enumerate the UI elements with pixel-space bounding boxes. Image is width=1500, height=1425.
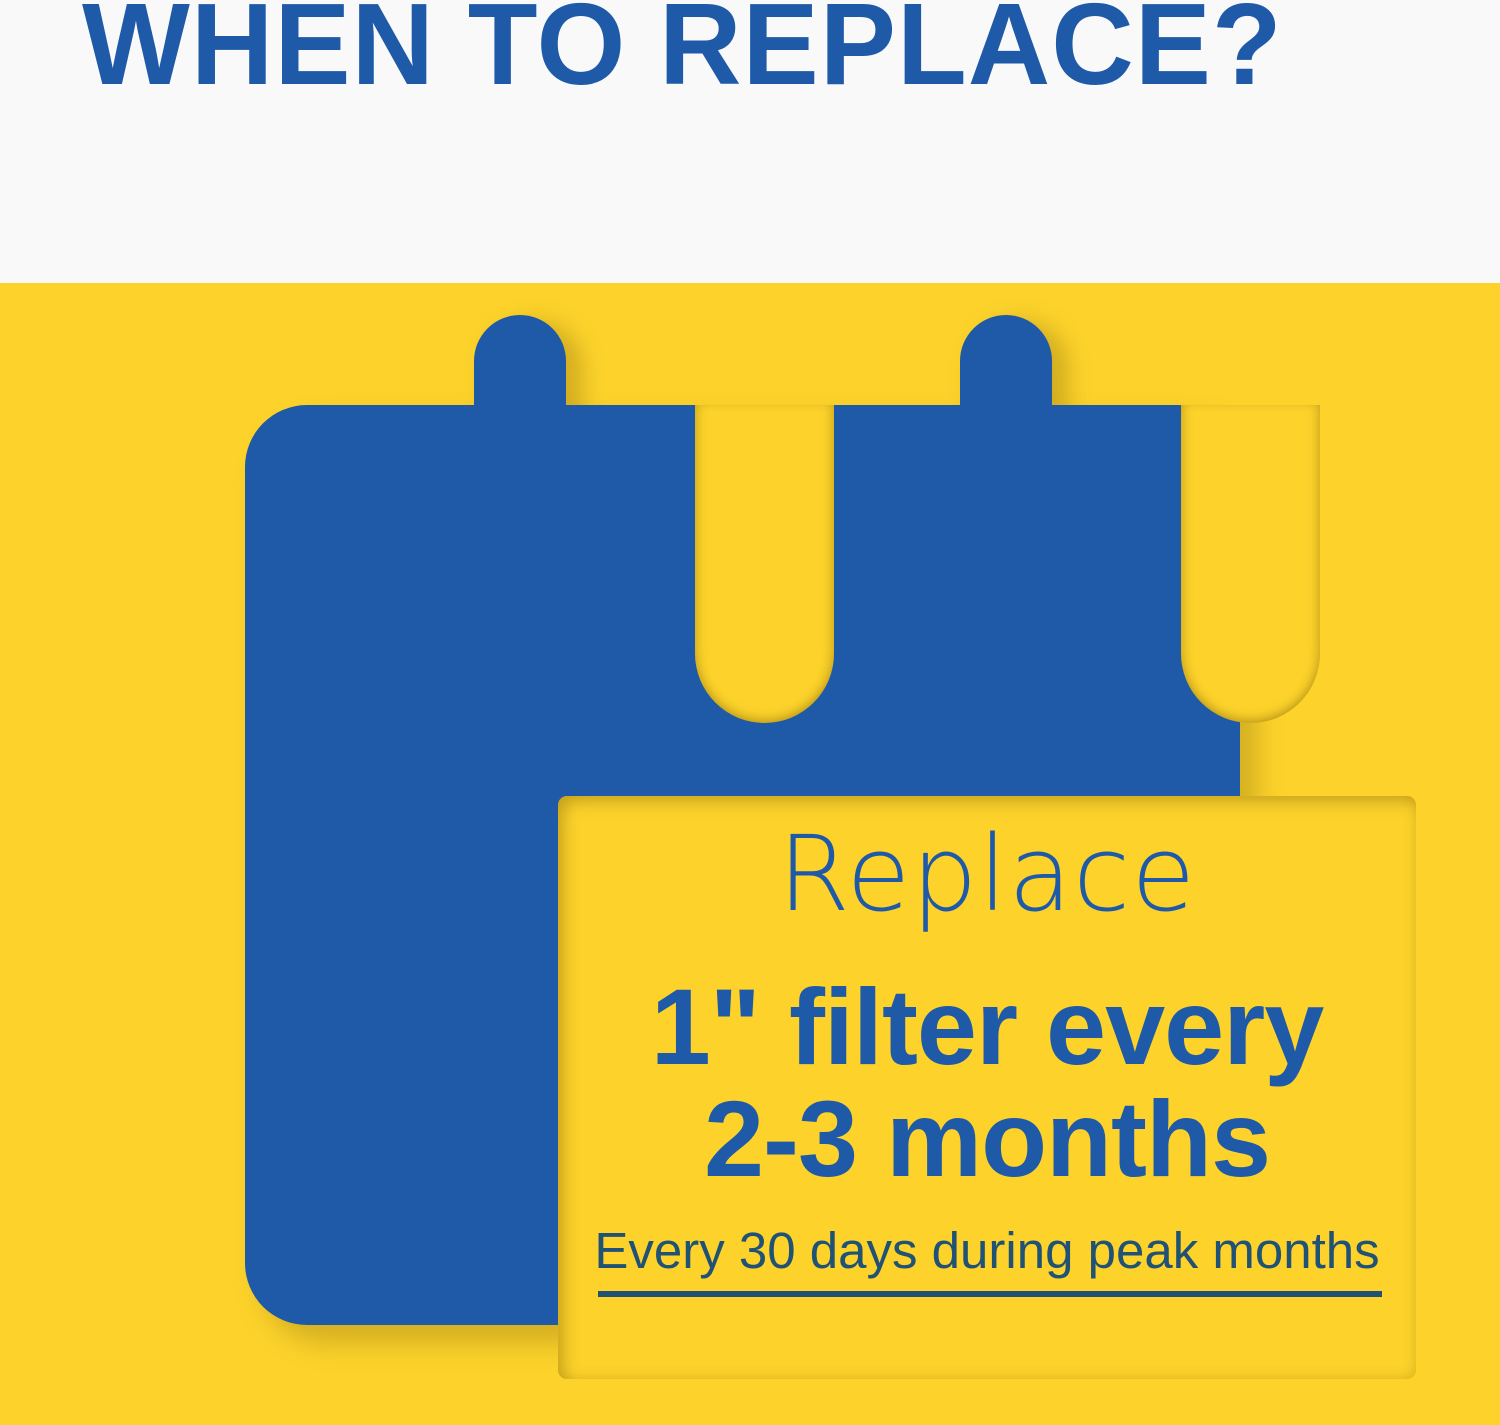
calendar-ring-right-notch xyxy=(1181,405,1320,723)
calendar-headline-line-1: 1" filter every xyxy=(558,971,1416,1083)
calendar-panel-content: Replace 1" filter every 2-3 months Every… xyxy=(558,796,1416,1379)
calendar-eyebrow-replace: Replace xyxy=(558,818,1416,930)
calendar-headline-line-2: 2-3 months xyxy=(558,1083,1416,1195)
calendar-headline: 1" filter every 2-3 months xyxy=(558,971,1416,1195)
infographic-page: WHEN TO REPLACE? Replace 1" filter every xyxy=(0,0,1500,1425)
calendar-ring-left xyxy=(474,315,566,579)
page-title: WHEN TO REPLACE? xyxy=(82,0,1283,104)
calendar-panel: Replace 1" filter every 2-3 months Every… xyxy=(558,796,1416,1379)
calendar-subnote-underline xyxy=(598,1291,1382,1297)
header-band: WHEN TO REPLACE? xyxy=(0,0,1500,283)
calendar-subnote-block: Every 30 days during peak months xyxy=(558,1221,1416,1281)
calendar-body: Replace 1" filter every 2-3 months Every… xyxy=(245,405,1240,1325)
calendar-ring-left-notch xyxy=(695,405,834,723)
calendar-subnote: Every 30 days during peak months xyxy=(594,1221,1379,1281)
calendar-icon: Replace 1" filter every 2-3 months Every… xyxy=(0,283,1500,1425)
calendar-ring-right xyxy=(960,315,1052,579)
yellow-stage: Replace 1" filter every 2-3 months Every… xyxy=(0,283,1500,1425)
